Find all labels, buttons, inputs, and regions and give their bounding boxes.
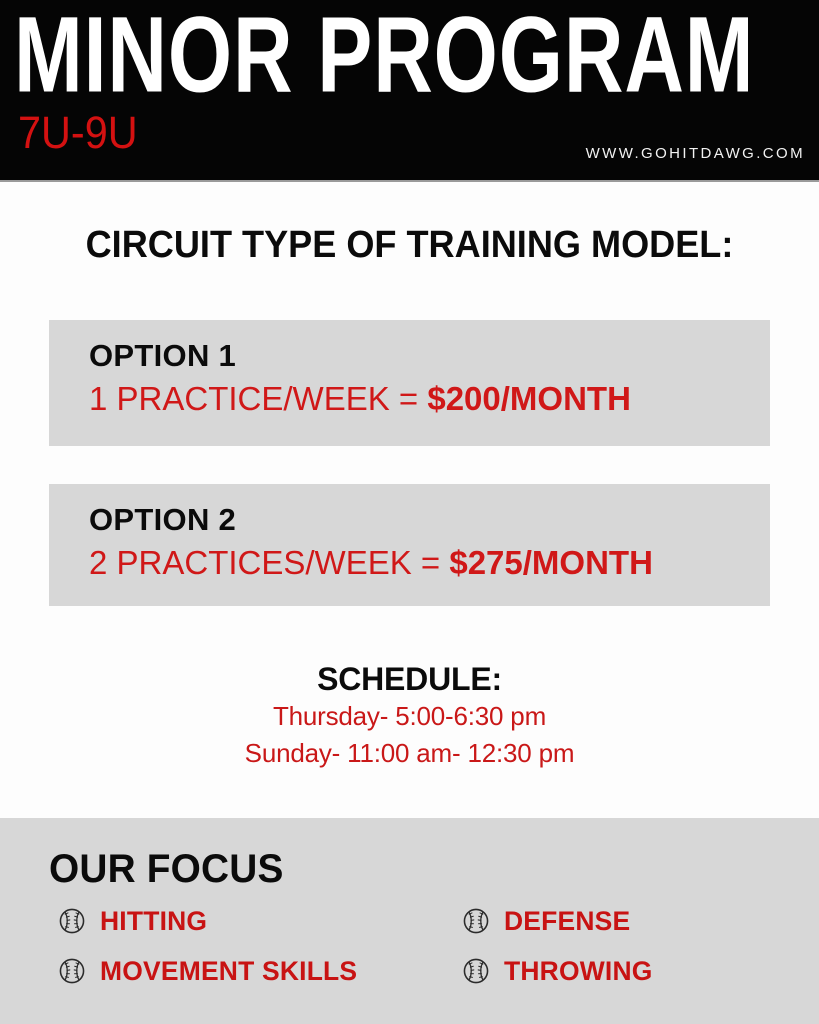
option-2-label: OPTION 2	[89, 500, 770, 540]
schedule-line-sunday: Sunday- 11:00 am- 12:30 pm	[0, 735, 819, 772]
baseball-icon	[58, 957, 86, 985]
focus-label-movement-skills: MOVEMENT SKILLS	[100, 956, 357, 986]
baseball-icon	[462, 957, 490, 985]
option-1-pricing: 1 PRACTICE/WEEK = $200/MONTH	[89, 376, 770, 422]
focus-item-movement-skills: MOVEMENT SKILLS	[58, 956, 363, 986]
schedule-line-thursday: Thursday- 5:00-6:30 pm	[0, 698, 819, 735]
page-title: MINOR PROGRAM	[14, 0, 754, 117]
schedule-title: SCHEDULE:	[0, 660, 819, 698]
option-2-pricing: 2 PRACTICES/WEEK = $275/MONTH	[89, 540, 770, 586]
training-model-heading: CIRCUIT TYPE OF TRAINING MODEL:	[20, 224, 798, 266]
header-banner: MINOR PROGRAM 7U-9U WWW.GOHITDAWG.COM	[0, 0, 819, 180]
option-card-1[interactable]: OPTION 1 1 PRACTICE/WEEK = $200/MONTH	[49, 320, 770, 446]
focus-item-hitting: HITTING	[58, 906, 209, 936]
option-1-price: $200/MONTH	[427, 380, 631, 417]
option-2-price: $275/MONTH	[449, 544, 653, 581]
schedule-section: SCHEDULE: Thursday- 5:00-6:30 pm Sunday-…	[0, 660, 819, 772]
focus-item-throwing: THROWING	[462, 956, 656, 986]
baseball-icon	[462, 907, 490, 935]
our-focus-section: OUR FOCUS HITTI	[0, 818, 819, 1024]
website-url[interactable]: WWW.GOHITDAWG.COM	[586, 145, 805, 162]
our-focus-title: OUR FOCUS	[49, 846, 284, 892]
focus-label-defense: DEFENSE	[504, 906, 630, 936]
baseball-icon	[58, 907, 86, 935]
age-group-label: 7U-9U	[18, 108, 138, 158]
focus-label-throwing: THROWING	[504, 956, 653, 986]
option-1-label: OPTION 1	[89, 336, 770, 376]
option-1-description: 1 PRACTICE/WEEK =	[89, 380, 427, 417]
option-card-2[interactable]: OPTION 2 2 PRACTICES/WEEK = $275/MONTH	[49, 484, 770, 606]
focus-label-hitting: HITTING	[100, 906, 207, 936]
main-content: CIRCUIT TYPE OF TRAINING MODEL: OPTION 1…	[0, 182, 819, 818]
focus-item-defense: DEFENSE	[462, 906, 633, 936]
option-2-description: 2 PRACTICES/WEEK =	[89, 544, 449, 581]
